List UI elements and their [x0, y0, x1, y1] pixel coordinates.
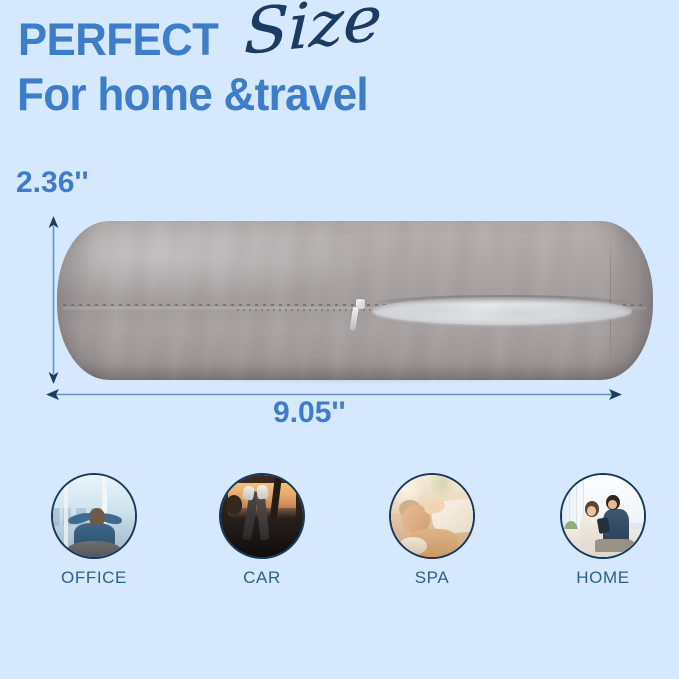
usecase-spa-label: SPA — [372, 568, 492, 588]
usecase-spa[interactable]: SPA — [372, 468, 492, 588]
usecase-office[interactable]: OFFICE — [34, 468, 154, 588]
usecase-spa-circle[interactable] — [389, 473, 475, 559]
width-dimension-arrow — [46, 387, 622, 402]
width-dimension-label: 9.05'' — [273, 398, 346, 428]
height-dimension-label: 2.36'' — [16, 168, 89, 198]
product-pillow-image — [57, 221, 653, 380]
usecase-car-label: CAR — [202, 568, 322, 588]
usecase-icon-row: OFFICE CAR — [0, 468, 679, 598]
office-chair — [66, 541, 122, 559]
headline-perfect: PERFECT — [18, 17, 218, 62]
usecase-car-circle[interactable] — [219, 473, 305, 559]
infographic-canvas: PERFECT Size For home &travel 2.36'' 9.0… — [0, 0, 679, 679]
headline-size-script: Size — [243, 0, 383, 64]
usecase-home-label: HOME — [543, 568, 663, 588]
car-roadside-tree — [226, 495, 242, 515]
spa-photo — [391, 475, 473, 557]
home-photo — [562, 475, 644, 557]
office-photo — [53, 475, 135, 557]
pillow-left-end-cap — [57, 221, 115, 380]
office-window-mullion-left — [64, 475, 68, 557]
headline-subtitle: For home &travel — [17, 71, 368, 117]
home-couple-legs — [595, 539, 634, 552]
car-photo — [221, 475, 303, 557]
usecase-car[interactable]: CAR — [202, 468, 322, 588]
usecase-office-circle[interactable] — [51, 473, 137, 559]
zipper-teeth — [237, 309, 387, 311]
usecase-home[interactable]: HOME — [543, 468, 663, 588]
headline-block: PERFECT Size For home &travel — [0, 0, 679, 140]
usecase-office-label: OFFICE — [34, 568, 154, 588]
usecase-home-circle[interactable] — [560, 473, 646, 559]
